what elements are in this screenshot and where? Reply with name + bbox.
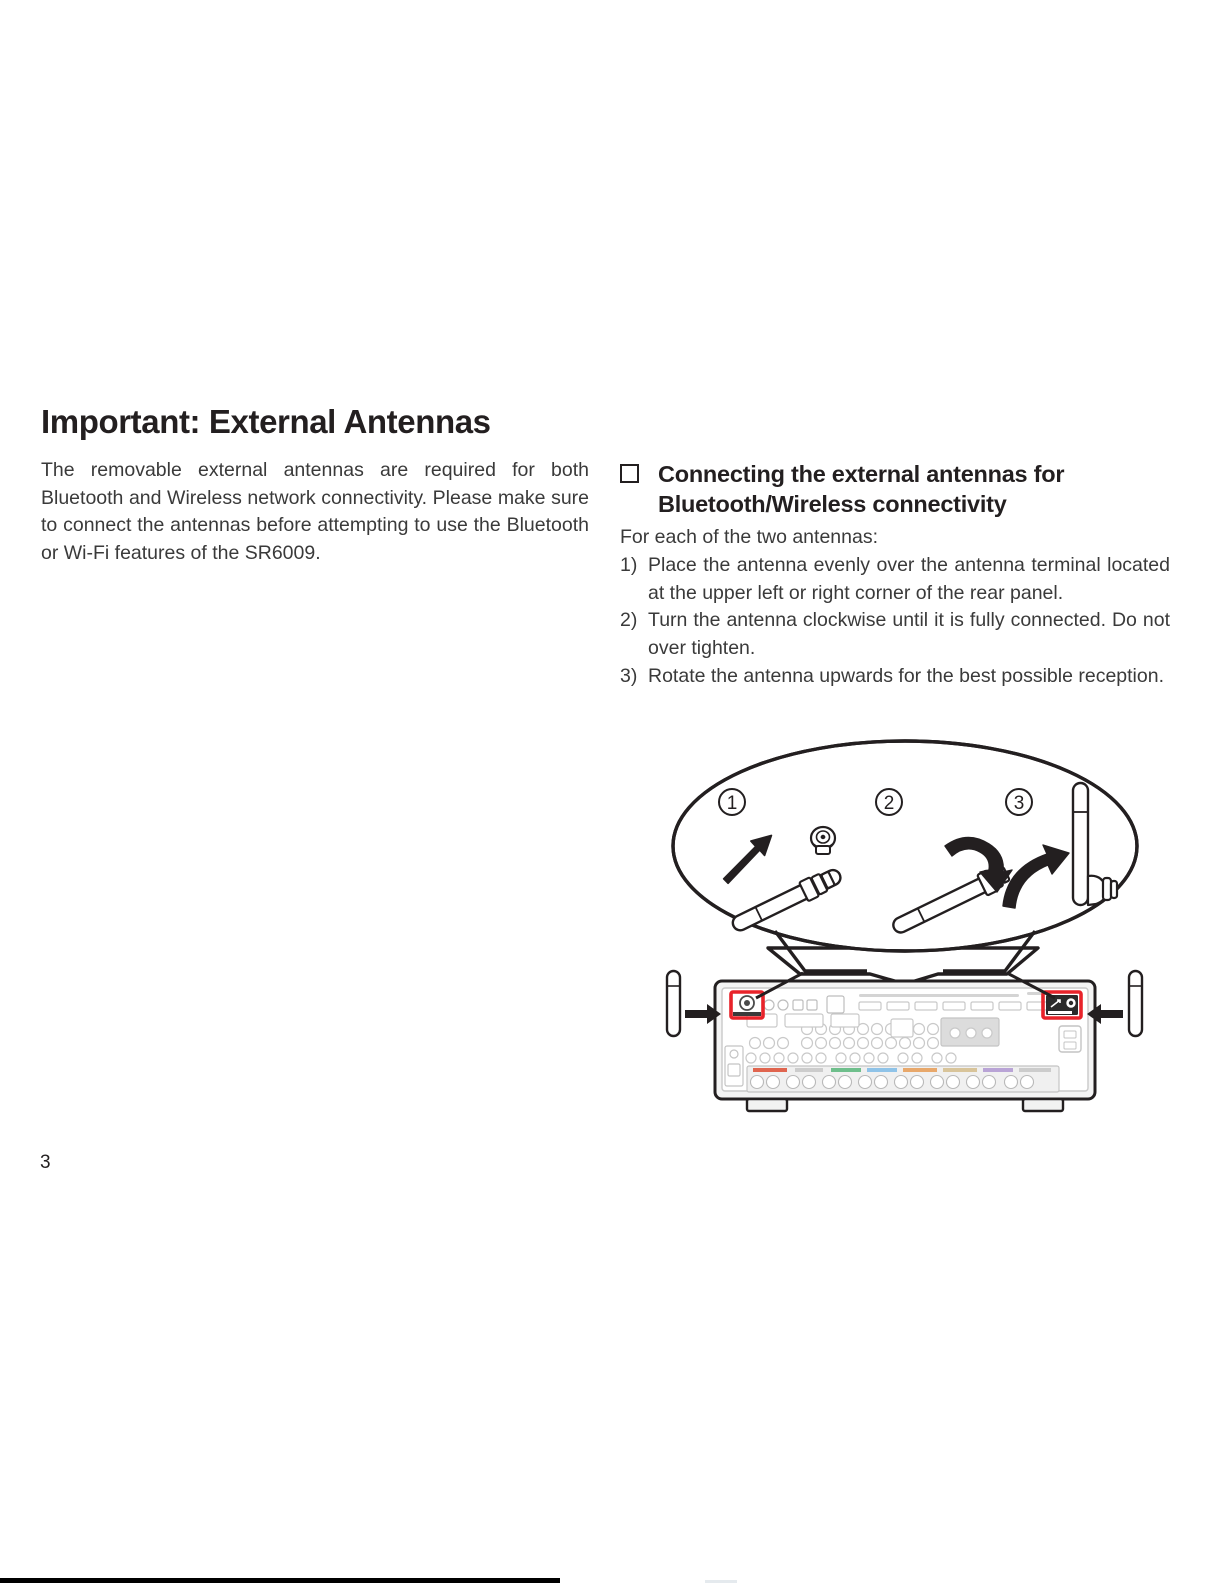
checkbox-square-icon [620,460,658,490]
step-marker-1: 1 [719,789,745,815]
step-item: 1)Place the antenna evenly over the ante… [620,552,1170,607]
svg-text:2: 2 [884,793,895,814]
document-page: Important: External Antennas The removab… [0,0,1220,1583]
section-heading-text: Connecting the external antennas for Blu… [658,461,1064,517]
left-side-antenna [667,971,721,1036]
step-marker-2: 2 [876,789,902,815]
svg-text:3: 3 [1014,793,1025,814]
antenna-installation-figure: 1 [655,726,1155,1126]
section-heading: Connecting the external antennas for Blu… [620,460,1170,519]
step-item: 2)Turn the antenna clockwise until it is… [620,607,1170,662]
step-text: Place the antenna evenly over the antenn… [648,554,1170,604]
step-item: 3)Rotate the antenna upwards for the bes… [620,663,1170,691]
step-number: 3) [620,663,648,691]
hdmi-port-row [859,1002,1049,1010]
left-column: Important: External Antennas The removab… [41,404,589,568]
svg-text:1: 1 [727,793,738,814]
page-title: Important: External Antennas [41,404,589,441]
page-number: 3 [40,1152,51,1174]
intro-paragraph: The removable external antennas are requ… [41,457,589,568]
scan-edge-bar [0,1578,560,1583]
step-text: Rotate the antenna upwards for the best … [648,665,1164,687]
step-number: 1) [620,552,648,580]
right-column: Connecting the external antennas for Blu… [620,460,1170,690]
step-text: Turn the antenna clockwise until it is f… [648,609,1170,659]
steps-intro: For each of the two antennas: [620,524,1170,552]
step-number: 2) [620,607,648,635]
step-marker-3: 3 [1006,789,1032,815]
receiver-rear-panel [715,973,1095,1111]
